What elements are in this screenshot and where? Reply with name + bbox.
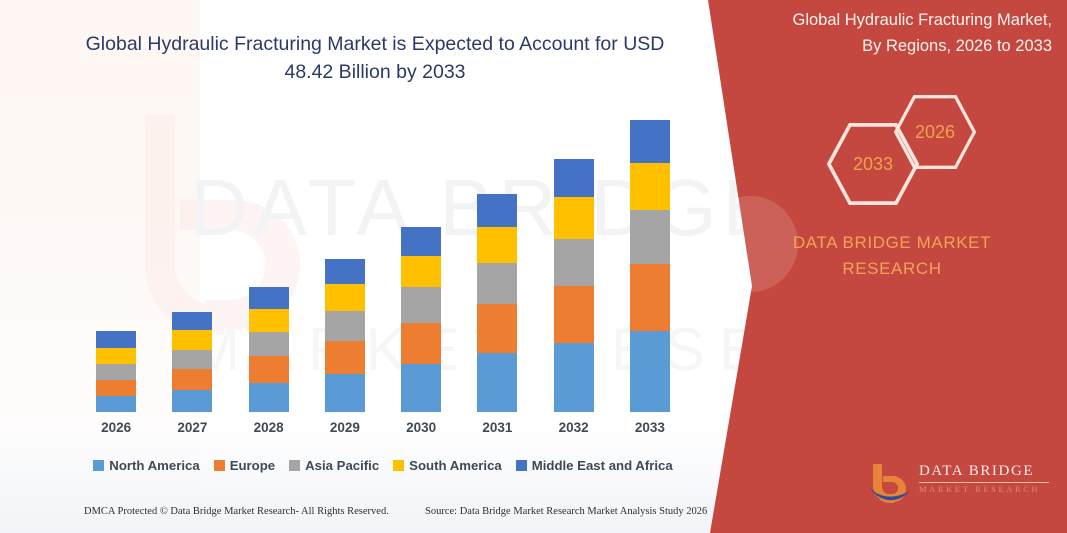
bar-segment [477, 227, 517, 263]
legend-item[interactable]: Europe [214, 458, 275, 473]
footer-dmca-text: DMCA Protected © Data Bridge Market Rese… [84, 506, 389, 517]
page-title: Global Hydraulic Fracturing Market is Ex… [60, 30, 690, 87]
bar-segment [325, 284, 365, 311]
stacked-bar [249, 287, 289, 412]
x-axis-label: 2030 [383, 420, 459, 444]
bar-segment [554, 159, 594, 197]
company-logo-divider [919, 482, 1049, 483]
bar-segment [325, 341, 365, 374]
bar-segment [477, 353, 517, 412]
company-logo-title: DATA BRIDGE [919, 464, 1059, 480]
footer-source-text: Source: Data Bridge Market Research Mark… [425, 506, 707, 517]
bar-segment [477, 194, 517, 227]
legend-item[interactable]: South America [393, 458, 502, 473]
bar-segment [630, 331, 670, 412]
legend-label: North America [109, 458, 199, 473]
x-axis-label: 2028 [231, 420, 307, 444]
stacked-bar [96, 331, 136, 412]
bar-segment [325, 259, 365, 284]
bar-segment [172, 369, 212, 390]
bar-segment [249, 383, 289, 412]
legend-swatch-icon [289, 460, 300, 471]
bar-segment [401, 256, 441, 288]
bar-segment [477, 304, 517, 353]
chart-legend: North AmericaEuropeAsia PacificSouth Ame… [78, 454, 688, 476]
brand-panel-content: Global Hydraulic Fracturing Market, By R… [712, 0, 1067, 533]
bar-column [536, 120, 612, 412]
bar-segment [554, 197, 594, 239]
stacked-bar [325, 259, 365, 412]
bar-segment [554, 286, 594, 343]
bar-segment [401, 323, 441, 364]
bar-segment [401, 287, 441, 322]
bar-segment [630, 120, 670, 163]
bar-segment [249, 309, 289, 332]
brand-name: DATA BRIDGE MARKET RESEARCH [732, 230, 1052, 283]
stacked-bar [172, 312, 212, 412]
bar-segment [172, 390, 212, 412]
legend-label: Asia Pacific [305, 458, 379, 473]
panel-heading-line1: Global Hydraulic Fracturing Market, [732, 8, 1052, 34]
company-logo-icon [867, 462, 911, 504]
bar-segment [249, 356, 289, 383]
bar-segment [401, 227, 441, 256]
infographic-canvas: DATA BRIDGE MARKET RESEARCH Global Hydra… [0, 0, 1067, 533]
footer: DMCA Protected © Data Bridge Market Rese… [0, 506, 700, 528]
legend-swatch-icon [516, 460, 527, 471]
bar-segment [554, 239, 594, 286]
company-logo-subtitle: MARKET RESEARCH [919, 485, 1059, 494]
x-axis-label: 2029 [307, 420, 383, 444]
legend-swatch-icon [214, 460, 225, 471]
bar-segment [172, 330, 212, 349]
stacked-bar-chart [78, 120, 688, 412]
bar-segment [96, 380, 136, 396]
hexagon-start-year-label: 2033 [853, 154, 893, 175]
bar-segment [96, 364, 136, 380]
company-logo-text: DATA BRIDGE MARKET RESEARCH [919, 464, 1059, 494]
bar-column [612, 120, 688, 412]
bar-segment [554, 343, 594, 412]
legend-swatch-icon [93, 460, 104, 471]
chart-bars [78, 120, 688, 412]
bar-segment [325, 374, 365, 412]
bar-segment [172, 312, 212, 331]
x-axis-label: 2033 [612, 420, 688, 444]
bar-segment [630, 264, 670, 331]
x-axis-label: 2032 [536, 420, 612, 444]
x-axis-labels: 20262027202820292030203120322033 [78, 420, 688, 444]
panel-heading: Global Hydraulic Fracturing Market, By R… [732, 8, 1052, 59]
brand-name-line1: DATA BRIDGE MARKET [732, 230, 1052, 256]
legend-label: Europe [230, 458, 275, 473]
year-hexagons: 2033 2026 [822, 95, 1012, 210]
bar-segment [96, 348, 136, 364]
company-logo: DATA BRIDGE MARKET RESEARCH [867, 460, 1057, 508]
x-axis-label: 2026 [78, 420, 154, 444]
legend-label: Middle East and Africa [532, 458, 673, 473]
legend-item[interactable]: North America [93, 458, 199, 473]
x-axis-label: 2031 [459, 420, 535, 444]
hexagon-end-year: 2026 [894, 95, 976, 169]
bar-segment [96, 331, 136, 347]
panel-heading-line2: By Regions, 2026 to 2033 [732, 34, 1052, 60]
legend-item[interactable]: Asia Pacific [289, 458, 379, 473]
bar-segment [96, 396, 136, 412]
brand-name-line2: RESEARCH [732, 256, 1052, 282]
stacked-bar [630, 120, 670, 412]
bar-segment [249, 287, 289, 309]
x-axis-label: 2027 [154, 420, 230, 444]
legend-swatch-icon [393, 460, 404, 471]
bar-segment [325, 311, 365, 341]
bar-column [307, 120, 383, 412]
bar-column [459, 120, 535, 412]
stacked-bar [477, 194, 517, 412]
bar-segment [401, 364, 441, 412]
bar-column [231, 120, 307, 412]
bar-column [383, 120, 459, 412]
bar-segment [630, 163, 670, 210]
stacked-bar [554, 159, 594, 412]
bar-segment [630, 210, 670, 265]
bar-segment [249, 332, 289, 356]
legend-label: South America [409, 458, 502, 473]
legend-item[interactable]: Middle East and Africa [516, 458, 673, 473]
bar-segment [477, 263, 517, 304]
bar-column [154, 120, 230, 412]
bar-segment [172, 350, 212, 370]
hexagon-end-year-label: 2026 [915, 122, 955, 143]
stacked-bar [401, 227, 441, 412]
bar-column [78, 120, 154, 412]
